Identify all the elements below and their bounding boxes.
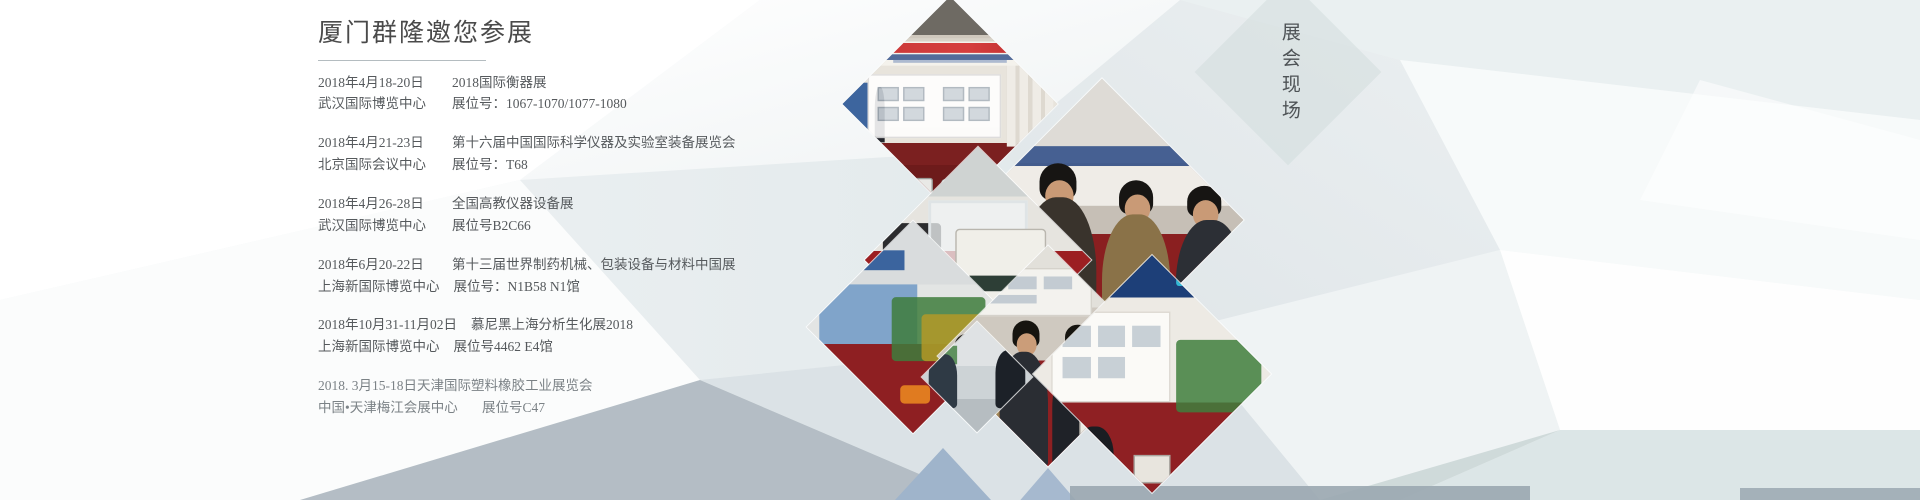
event-venue: 武汉国际博览中心 — [318, 93, 438, 115]
page-title: 厦门群隆邀您参展 — [318, 18, 1078, 58]
event-line-bottom: 上海新国际博览中心展位号：N1B58 N1馆 — [318, 276, 1078, 298]
event-booth: 展位号4462 E4馆 — [440, 336, 553, 358]
event-venue: 北京国际会议中心 — [318, 154, 438, 176]
event-line-bottom: 中国•天津梅江会展中心展位号C47 — [318, 397, 1078, 419]
event-item: 2018年4月26-28日全国高教仪器设备展 武汉国际博览中心展位号B2C66 — [318, 193, 1078, 237]
event-item: 2018. 3月15-18日天津国际塑料橡胶工业展览会 中国•天津梅江会展中心展… — [318, 375, 1078, 419]
event-name: 第十六届中国国际科学仪器及实验室装备展览会 — [438, 132, 736, 154]
title-divider — [318, 60, 486, 61]
event-date: 2018年10月31-11月02日 — [318, 314, 457, 336]
event-date: 2018年4月21-23日 — [318, 132, 438, 154]
event-date: 2018年6月20-22日 — [318, 254, 438, 276]
event-item: 2018年6月20-22日第十三届世界制药机械、包装设备与材料中国展 上海新国际… — [318, 254, 1078, 298]
event-info-panel: 厦门群隆邀您参展 2018年4月18-20日2018国际衡器展 武汉国际博览中心… — [318, 18, 1078, 488]
event-booth: 展位号：T68 — [438, 154, 528, 176]
event-name: 2018国际衡器展 — [438, 72, 547, 94]
event-line-bottom: 武汉国际博览中心展位号：1067-1070/1077-1080 — [318, 93, 1078, 115]
event-name: 第十三届世界制药机械、包装设备与材料中国展 — [438, 254, 736, 276]
event-line-top: 2018. 3月15-18日天津国际塑料橡胶工业展览会 — [318, 375, 1078, 397]
event-booth: 展位号C47 — [468, 397, 545, 419]
bottom-bar-decoration-right — [1740, 488, 1920, 500]
exhibition-banner: 厦门群隆邀您参展 2018年4月18-20日2018国际衡器展 武汉国际博览中心… — [0, 0, 1920, 500]
event-booth: 展位号B2C66 — [438, 215, 531, 237]
event-venue: 上海新国际博览中心 — [318, 276, 440, 298]
event-item: 2018年4月21-23日第十六届中国国际科学仪器及实验室装备展览会 北京国际会… — [318, 132, 1078, 176]
event-line-top: 2018年6月20-22日第十三届世界制药机械、包装设备与材料中国展 — [318, 254, 1078, 276]
event-line-top: 2018年4月26-28日全国高教仪器设备展 — [318, 193, 1078, 215]
event-venue: 中国•天津梅江会展中心 — [318, 397, 468, 419]
event-line-bottom: 武汉国际博览中心展位号B2C66 — [318, 215, 1078, 237]
event-line-top: 2018年10月31-11月02日慕尼黑上海分析生化展2018 — [318, 314, 1078, 336]
event-venue: 上海新国际博览中心 — [318, 336, 440, 358]
event-line-bottom: 上海新国际博览中心展位号4462 E4馆 — [318, 336, 1078, 358]
event-name: 慕尼黑上海分析生化展2018 — [457, 314, 633, 336]
event-item: 2018年4月18-20日2018国际衡器展 武汉国际博览中心展位号：1067-… — [318, 72, 1078, 116]
vertical-label: 展会现场 — [1278, 22, 1300, 126]
event-line-top: 2018年4月21-23日第十六届中国国际科学仪器及实验室装备展览会 — [318, 132, 1078, 154]
event-venue: 武汉国际博览中心 — [318, 215, 438, 237]
event-line-bottom: 北京国际会议中心展位号：T68 — [318, 154, 1078, 176]
event-booth: 展位号：N1B58 N1馆 — [440, 276, 580, 298]
event-date: 2018. 3月15-18日天津国际塑料橡胶工业展览会 — [318, 375, 593, 397]
event-booth: 展位号：1067-1070/1077-1080 — [438, 93, 627, 115]
event-name: 全国高教仪器设备展 — [438, 193, 574, 215]
event-line-top: 2018年4月18-20日2018国际衡器展 — [318, 72, 1078, 94]
event-date: 2018年4月26-28日 — [318, 193, 438, 215]
event-item: 2018年10月31-11月02日慕尼黑上海分析生化展2018 上海新国际博览中… — [318, 314, 1078, 358]
event-date: 2018年4月18-20日 — [318, 72, 438, 94]
